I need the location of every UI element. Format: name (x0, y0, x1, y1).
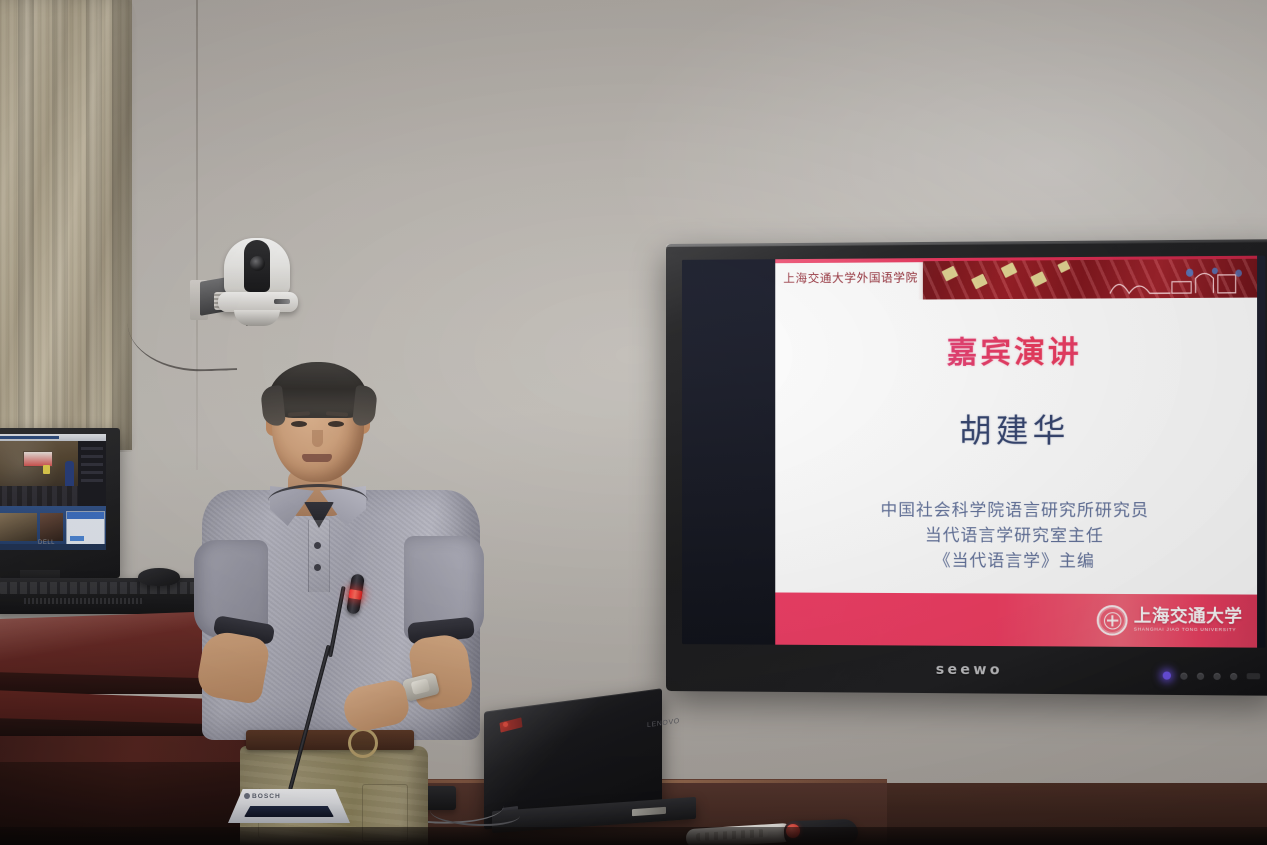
thinkpad-logo-dot-icon (503, 722, 508, 727)
eye-right (328, 421, 344, 427)
slide-body: 嘉宾演讲 胡建华 中国社会科学院语言研究所研究员 当代语言学研究室主任 《当代语… (775, 298, 1257, 595)
ir-receiver-icon (1247, 673, 1261, 679)
microphone-base-slot (244, 806, 334, 817)
belt (246, 730, 414, 750)
slide-speaker-name: 胡建华 (775, 405, 1257, 452)
letterbox-left (682, 259, 775, 644)
camera-lens-icon (250, 256, 265, 271)
power-led-icon (1163, 671, 1171, 679)
monitor-dialog-window (66, 511, 105, 545)
monitor-screen (0, 434, 106, 550)
lecture-room-photo: DELL (0, 0, 1267, 845)
microphone-active-led (348, 589, 362, 600)
shirt-placket (308, 520, 330, 592)
campus-line-art-icon (1107, 265, 1255, 299)
university-name-en: SHANGHAI JIAO TONG UNIVERSITY (1134, 628, 1243, 633)
camera-mount (234, 310, 280, 326)
display-chin: seewo (666, 644, 1267, 696)
university-logo: 上海交通大学 SHANGHAI JIAO TONG UNIVERSITY (1097, 605, 1243, 636)
display-button[interactable] (1213, 672, 1220, 679)
slide-footer: 上海交通大学 SHANGHAI JIAO TONG UNIVERSITY (775, 592, 1257, 647)
display-button[interactable] (1180, 672, 1187, 679)
computer-mouse[interactable] (138, 568, 180, 586)
nose (312, 430, 323, 447)
hair-side-left (260, 385, 286, 427)
hair-side-right (352, 385, 378, 427)
display-controls[interactable] (1163, 671, 1260, 680)
monitor-thumbnail (0, 513, 37, 541)
curtain-edge-shadow (112, 0, 138, 452)
feed-lamp (43, 465, 51, 474)
bosch-logo-icon (244, 793, 250, 799)
display-button[interactable] (1230, 672, 1237, 679)
letterbox-right (1257, 256, 1265, 648)
collar-trim (268, 484, 368, 501)
monitor-brand-label: DELL (38, 540, 55, 546)
desk-monitor[interactable]: DELL (0, 428, 120, 578)
feed-person (65, 461, 75, 485)
console-vent (24, 598, 144, 604)
ptz-camera (212, 236, 308, 330)
slide-banner: 上海交通大学外国语学院 (775, 256, 1257, 301)
monitor-thumbnail (40, 513, 64, 541)
belt-buckle (348, 728, 378, 758)
camera-status-led (274, 299, 290, 304)
university-seal-icon (1097, 605, 1128, 636)
slide-credits: 中国社会科学院语言研究所研究员 当代语言学研究室主任 《当代语言学》主编 (775, 497, 1257, 574)
university-name-cn: 上海交通大学 (1134, 608, 1243, 626)
slide-credit-line: 当代语言学研究室主任 (775, 522, 1257, 548)
eye-left (291, 421, 307, 427)
monitor-window-titlebar (0, 434, 106, 441)
foreground-shadow (0, 827, 1267, 845)
slide-org-name: 上海交通大学外国语学院 (783, 269, 918, 286)
microphone-brand-label: BOSCH (252, 793, 281, 800)
slide-credit-line: 《当代语言学》主编 (775, 547, 1257, 574)
monitor-side-panel (78, 441, 106, 513)
presentation-slide: 上海交通大学外国语学院 嘉宾演讲 胡建华 中国社会科学院语言研究所研究员 当代语… (775, 256, 1257, 648)
display-panel: 上海交通大学外国语学院 嘉宾演讲 胡建华 中国社会科学院语言研究所研究员 当代语… (682, 256, 1265, 648)
slide-title: 嘉宾演讲 (775, 326, 1257, 372)
shirt-button (314, 564, 321, 571)
display-brand-label: seewo (936, 661, 1003, 678)
mouth (302, 454, 332, 462)
interactive-display[interactable]: 上海交通大学外国语学院 嘉宾演讲 胡建华 中国社会科学院语言研究所研究员 当代语… (666, 239, 1267, 696)
display-button[interactable] (1197, 672, 1204, 679)
slide-credit-line: 中国社会科学院语言研究所研究员 (775, 497, 1257, 523)
shirt-button (314, 542, 321, 549)
banner-photo-strip (923, 259, 1257, 300)
